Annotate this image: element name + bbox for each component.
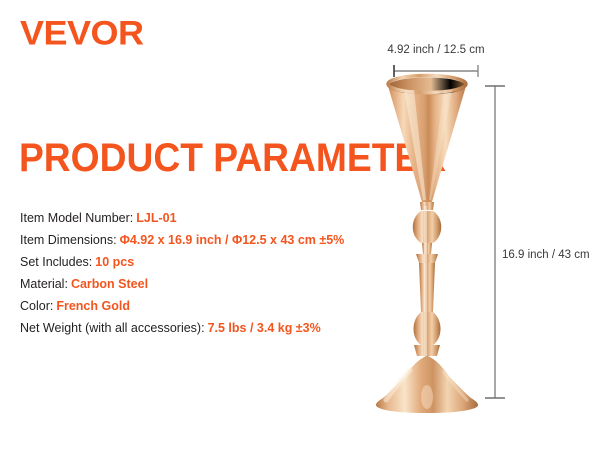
spec-value: 7.5 lbs / 3.4 kg ±3% [208, 321, 321, 335]
spec-value: LJL-01 [136, 211, 176, 225]
dimension-width-label: 4.92 inch / 12.5 cm [380, 44, 492, 56]
spec-row: Item Model Number:LJL-01 [20, 207, 390, 229]
dimension-line-height [340, 30, 600, 430]
spec-label: Item Dimensions: [20, 233, 117, 247]
spec-label: Item Model Number: [20, 211, 133, 225]
spec-value: Carbon Steel [71, 277, 148, 291]
product-image-stage [340, 30, 600, 430]
spec-value: Φ4.92 x 16.9 inch / Φ12.5 x 43 cm ±5% [120, 233, 345, 247]
spec-label: Material: [20, 277, 68, 291]
spec-label: Net Weight (with all accessories): [20, 321, 205, 335]
spec-row: Net Weight (with all accessories):7.5 lb… [20, 317, 390, 339]
spec-row: Color:French Gold [20, 295, 390, 317]
spec-row: Item Dimensions:Φ4.92 x 16.9 inch / Φ12.… [20, 229, 390, 251]
spec-list: Item Model Number:LJL-01 Item Dimensions… [20, 207, 390, 339]
dimension-height-label: 16.9 inch / 43 cm [502, 249, 590, 261]
spec-row: Material:Carbon Steel [20, 273, 390, 295]
vevor-logo: VEVOR [20, 16, 144, 51]
spec-label: Set Includes: [20, 255, 92, 269]
spec-label: Color: [20, 299, 53, 313]
spec-row: Set Includes:10 pcs [20, 251, 390, 273]
spec-value: 10 pcs [95, 255, 134, 269]
spec-value: French Gold [56, 299, 130, 313]
